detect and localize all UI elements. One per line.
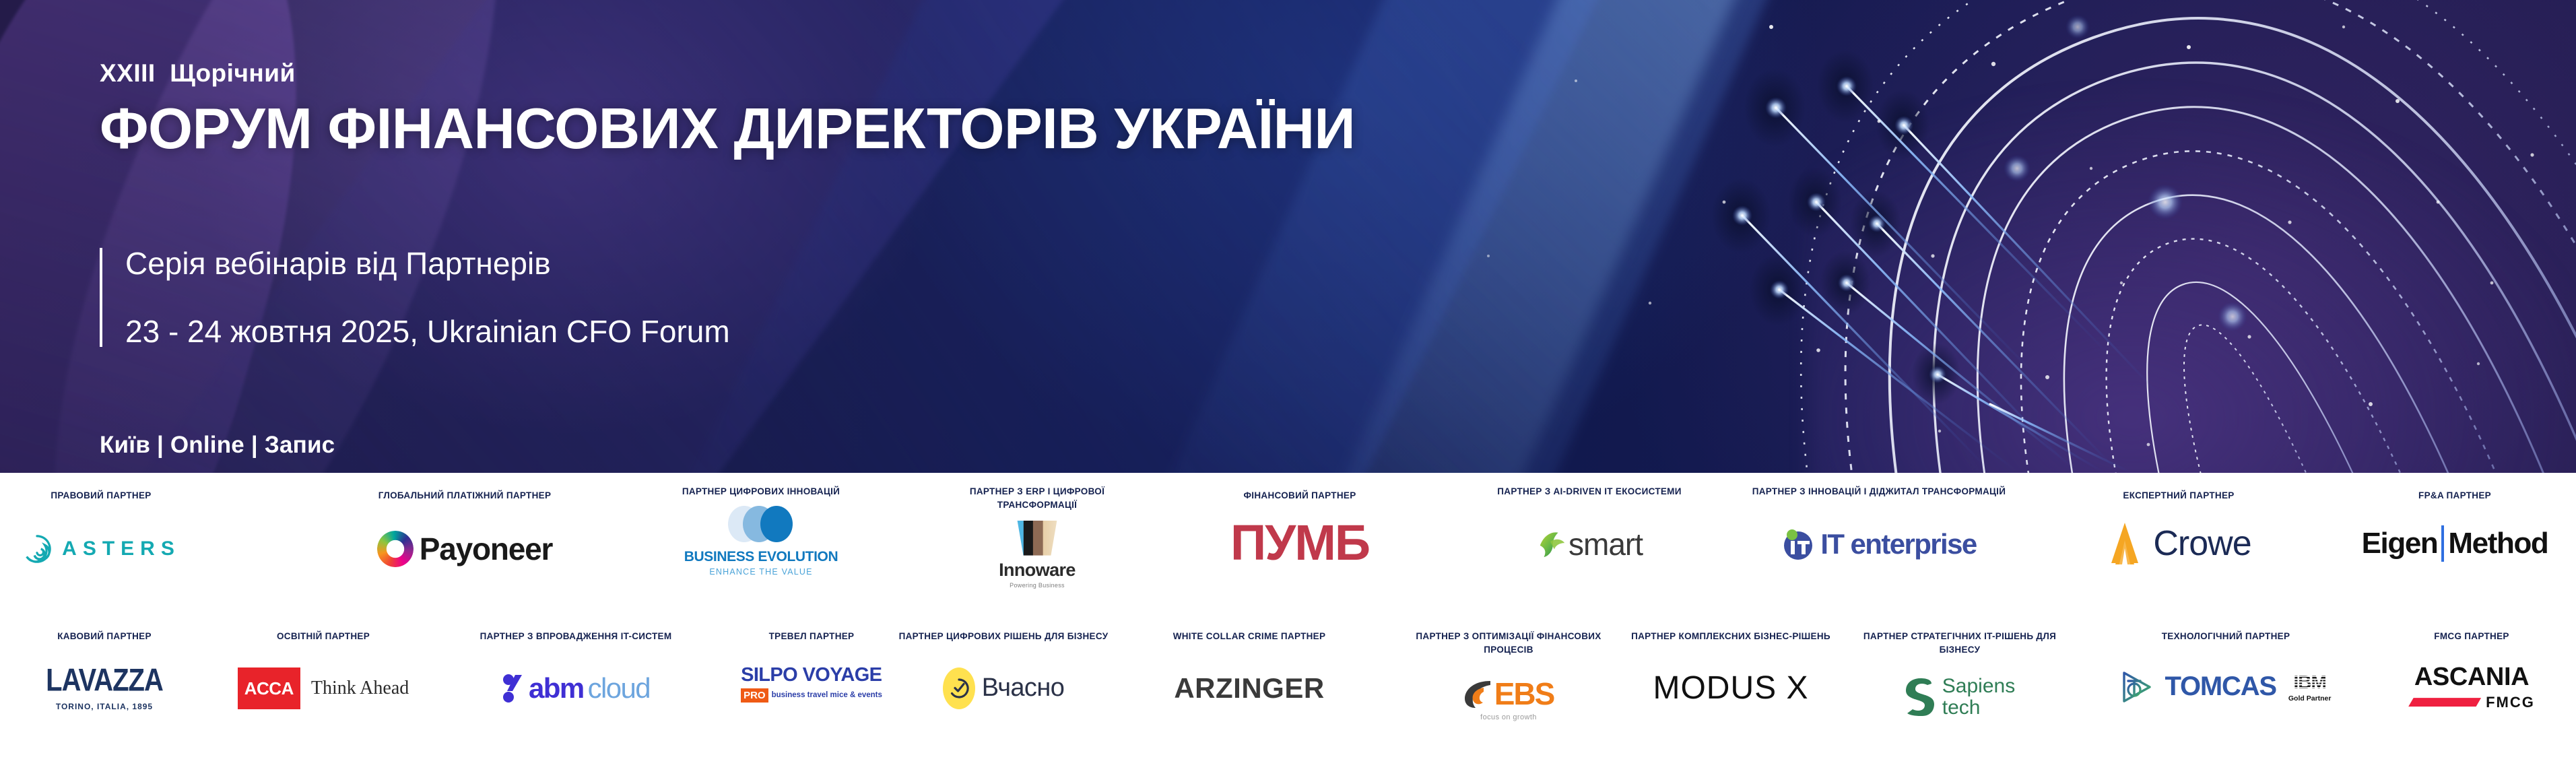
ascania-wordmark: ASCANIA	[2414, 663, 2529, 692]
partner-sapiens-tech[interactable]: ПАРТНЕР СТРАТЕГІЧНИХ IT-РІШЕНЬ ДЛЯ БІЗНЕ…	[1852, 630, 2068, 734]
lavazza-tagline: TORINO, ITALIA, 1895	[56, 702, 153, 711]
partner-lavazza[interactable]: КАВОВИЙ ПАРТНЕР LAVAZZA TORINO, ITALIA, …	[20, 630, 189, 725]
abmcloud-wordmark-2: cloud	[588, 672, 650, 705]
innoware-tagline: Powering Business	[1010, 582, 1065, 589]
innoware-wordmark: Innoware	[999, 560, 1076, 581]
partner-modus-x[interactable]: ПАРТНЕР КОМПЛЕКСНИХ БІЗНЕС-РІШЕНЬ MODUS …	[1616, 630, 1845, 725]
partner-label: ПАРТНЕР З ІННОВАЦІЙ І ДІДЖИТАЛ ТРАНСФОРМ…	[1744, 485, 2014, 498]
partner-label: ПАРТНЕР З AI-DRIVEN IT ЕКОСИСТЕМИ	[1492, 485, 1687, 498]
partner-tomcas[interactable]: ТЕХНОЛОГІЧНИЙ ПАРТНЕР TOMCAS IBM Gold Pa…	[2081, 630, 2371, 724]
partner-asters[interactable]: ПРАВОВИЙ ПАРТНЕР ASTERS	[7, 489, 195, 586]
partner-label: ПАРТНЕР З ОПТИМІЗАЦІЇ ФІНАНСОВИХ ПРОЦЕСІ…	[1404, 630, 1613, 656]
partner-ascania[interactable]: FMCG ПАРТНЕР ASCANIA FMCG	[2384, 630, 2559, 724]
business-evolution-wordmark: BUSINESS EVOLUTION	[684, 549, 838, 565]
partner-acca[interactable]: ОСВІТНІЙ ПАРТНЕР ACCA Think Ahead	[232, 630, 414, 725]
partner-label: ПРАВОВИЙ ПАРТНЕР	[7, 489, 195, 502]
partners-section: ПРАВОВИЙ ПАРТНЕР ASTERS ГЛОБАЛЬНИЙ ПЛАТІ…	[0, 473, 2576, 782]
eigenmethod-divider	[2441, 525, 2444, 562]
partner-label: ПАРТНЕР З ВПРОВАДЖЕННЯ IT-СИСТЕМ	[465, 630, 687, 643]
partner-label: ФІНАНСОВИЙ ПАРТНЕР	[1185, 489, 1414, 502]
hero-subtitle-1: Серія вебінарів від Партнерів	[125, 248, 730, 279]
sapiens-wordmark-1: Sapiens	[1942, 676, 2015, 697]
vchasno-mark-icon	[943, 667, 975, 709]
partner-label: ПАРТНЕР СТРАТЕГІЧНИХ IT-РІШЕНЬ ДЛЯ БІЗНЕ…	[1852, 630, 2068, 656]
acca-tagline: Think Ahead	[311, 678, 409, 699]
partner-label: WHITE COLLAR CRIME ПАРТНЕР	[1138, 630, 1360, 643]
partner-silpo-voyage[interactable]: ТРЕВЕЛ ПАРТНЕР SILPO VOYAGE PRO business…	[731, 630, 892, 721]
hero-subtitle-block: Серія вебінарів від Партнерів 23 - 24 жо…	[100, 248, 730, 347]
ebs-leaf-icon	[1463, 678, 1493, 709]
silpo-voyage-tagline: business travel mice & events	[772, 691, 882, 700]
innoware-cup-icon	[1016, 521, 1059, 556]
hero-banner: XXIII Щорічний ФОРУМ ФІНАНСОВИХ ДИРЕКТОР…	[0, 0, 2576, 473]
hero-subtitle-2: 23 - 24 жовтня 2025, Ukrainian CFO Forum	[125, 316, 730, 347]
partner-innoware[interactable]: ПАРТНЕР З ERP І ЦИФРОВОЇ ТРАНСФОРМАЦІЇ I…	[933, 485, 1142, 593]
partner-label: ПАРТНЕР ЦИФРОВИХ ІННОВАЦІЙ	[663, 485, 859, 498]
tomcas-wordmark: TOMCAS	[2165, 672, 2276, 702]
it-enterprise-badge-icon	[1781, 527, 1815, 561]
partner-eigenmethod[interactable]: FP&A ПАРТНЕР Eigen Method	[2344, 489, 2566, 581]
partner-payoneer[interactable]: ГЛОБАЛЬНИЙ ПЛАТІЖНИЙ ПАРТНЕР Payoneer	[323, 489, 606, 586]
crowe-flame-icon	[2106, 523, 2144, 564]
smart-bird-icon	[1536, 529, 1567, 560]
tomcas-mark-icon	[2120, 669, 2152, 705]
abmcloud-mark-icon	[502, 674, 525, 703]
sapiens-s-icon	[1905, 678, 1934, 716]
hero-venue: Київ | Online | Запис	[100, 432, 335, 459]
silpo-voyage-wordmark: SILPO VOYAGE	[741, 665, 882, 686]
business-evolution-tagline: ENHANCE THE VALUE	[709, 567, 812, 577]
payoneer-wordmark: Payoneer	[420, 531, 553, 567]
partner-business-evolution[interactable]: ПАРТНЕР ЦИФРОВИХ ІННОВАЦІЙ BUSINESS EVOL…	[663, 485, 859, 581]
partner-pumb[interactable]: ФІНАНСОВИЙ ПАРТНЕР ПУМБ	[1185, 489, 1414, 581]
ascania-fmcg-label: FMCG	[2486, 694, 2535, 711]
partner-label: ТЕХНОЛОГІЧНИЙ ПАРТНЕР	[2081, 630, 2371, 643]
partner-label: ЕКСПЕРТНИЙ ПАРТНЕР	[2068, 489, 2290, 502]
asters-wordmark: ASTERS	[62, 537, 180, 560]
business-evolution-circles-icon	[728, 506, 794, 542]
arzinger-wordmark: ARZINGER	[1174, 672, 1324, 705]
ibm-gold-partner-label: Gold Partner	[2288, 694, 2332, 703]
partner-label: ГЛОБАЛЬНИЙ ПЛАТІЖНИЙ ПАРТНЕР	[323, 489, 606, 502]
lavazza-wordmark: LAVAZZA	[46, 663, 163, 698]
partner-label: ТРЕВЕЛ ПАРТНЕР	[731, 630, 892, 643]
partner-label: ПАРТНЕР КОМПЛЕКСНИХ БІЗНЕС-РІШЕНЬ	[1616, 630, 1845, 643]
ibm-wordmark: IBM	[2294, 672, 2326, 693]
partner-label: ПАРТНЕР З ERP І ЦИФРОВОЇ ТРАНСФОРМАЦІЇ	[933, 485, 1142, 511]
eigenmethod-wordmark-2: Method	[2448, 527, 2548, 560]
asters-spiral-icon	[22, 533, 53, 564]
partner-smart[interactable]: ПАРТНЕР З AI-DRIVEN IT ЕКОСИСТЕМИ smart	[1492, 485, 1687, 583]
partner-label: ПАРТНЕР ЦИФРОВИХ РІШЕНЬ ДЛЯ БІЗНЕСУ	[889, 630, 1118, 643]
partner-crowe[interactable]: ЕКСПЕРТНИЙ ПАРТНЕР Crowe	[2068, 489, 2290, 581]
ebs-wordmark: EBS	[1494, 676, 1554, 712]
partner-label: FP&A ПАРТНЕР	[2344, 489, 2566, 502]
partner-ebs[interactable]: ПАРТНЕР З ОПТИМІЗАЦІЇ ФІНАНСОВИХ ПРОЦЕСІ…	[1404, 630, 1613, 736]
silpo-pro-badge: PRO	[741, 688, 768, 703]
partner-label: КАВОВИЙ ПАРТНЕР	[20, 630, 189, 643]
partner-vchasno[interactable]: ПАРТНЕР ЦИФРОВИХ РІШЕНЬ ДЛЯ БІЗНЕСУ Вчас…	[889, 630, 1118, 725]
eigenmethod-wordmark-1: Eigen	[2362, 527, 2438, 560]
pumb-wordmark: ПУМБ	[1230, 521, 1369, 566]
payoneer-ring-icon	[377, 531, 414, 567]
crowe-wordmark: Crowe	[2153, 523, 2251, 564]
ascania-red-bar	[2408, 698, 2481, 707]
ebs-tagline: focus on growth	[1480, 713, 1537, 721]
modus-x-wordmark: MODUS X	[1653, 670, 1808, 707]
it-enterprise-wordmark: IT enterprise	[1820, 528, 1976, 560]
abmcloud-wordmark-1: abm	[529, 672, 584, 705]
vchasno-wordmark: Вчасно	[982, 674, 1065, 703]
page-title: ФОРУМ ФІНАНСОВИХ ДИРЕКТОРІВ УКРАЇНИ	[100, 100, 1355, 158]
partner-label: ОСВІТНІЙ ПАРТНЕР	[232, 630, 414, 643]
smart-wordmark: smart	[1568, 526, 1643, 562]
partner-abmcloud[interactable]: ПАРТНЕР З ВПРОВАДЖЕННЯ IT-СИСТЕМ abm clo…	[465, 630, 687, 725]
hero-text-block: XXIII Щорічний ФОРУМ ФІНАНСОВИХ ДИРЕКТОР…	[100, 61, 1355, 158]
sapiens-wordmark-2: tech	[1942, 697, 2015, 719]
partner-arzinger[interactable]: WHITE COLLAR CRIME ПАРТНЕР ARZINGER	[1138, 630, 1360, 725]
partner-it-enterprise[interactable]: ПАРТНЕР З ІННОВАЦІЙ І ДІДЖИТАЛ ТРАНСФОРМ…	[1744, 485, 2014, 583]
acca-badge: ACCA	[238, 667, 300, 709]
hero-kicker: XXIII Щорічний	[100, 61, 1355, 86]
partner-label: FMCG ПАРТНЕР	[2384, 630, 2559, 643]
